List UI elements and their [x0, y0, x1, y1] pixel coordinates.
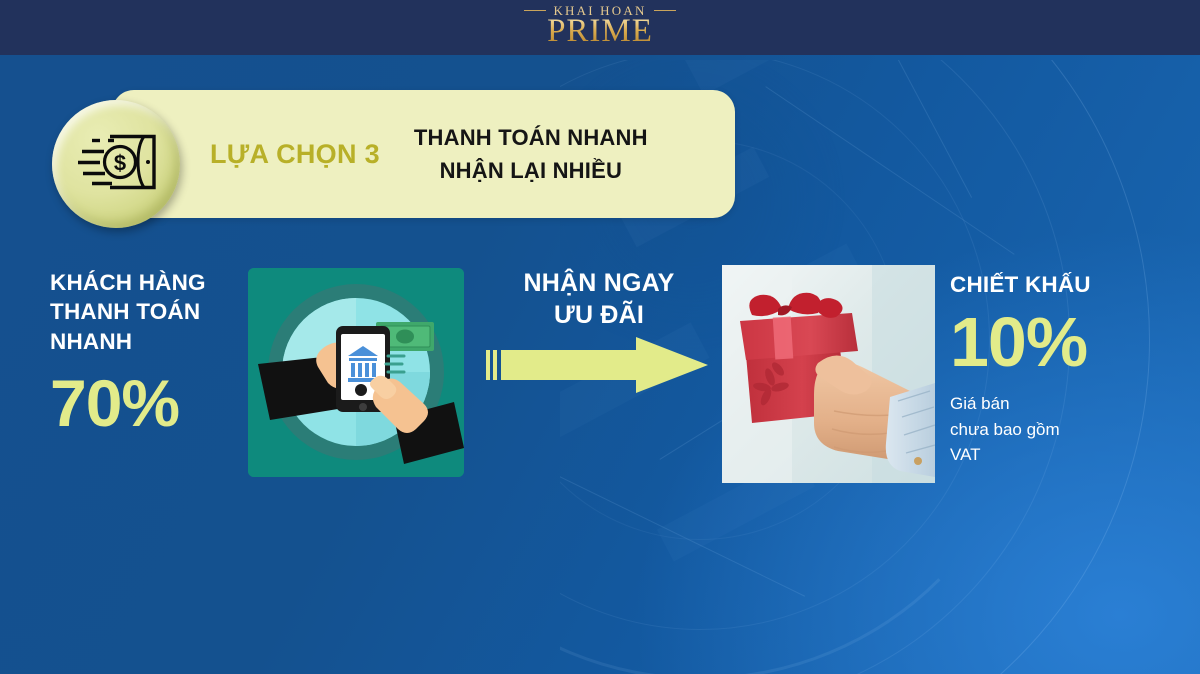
right-arrow-icon: [486, 335, 712, 395]
option-banner: LỰA CHỌN 3 THANH TOÁN NHANH NHẬN LẠI NHI…: [112, 90, 735, 218]
center-title-line2: ƯU ĐÃI: [484, 300, 714, 332]
right-note-line1: Giá bán: [950, 391, 1165, 416]
option-headline: THANH TOÁN NHANH NHẬN LẠI NHIỀU: [414, 121, 648, 188]
gift-box-photo: [722, 265, 935, 483]
left-stat-block: KHÁCH HÀNG THANH TOÁN NHANH 70%: [50, 268, 245, 436]
left-title-line3: NHANH: [50, 327, 245, 356]
right-title: CHIẾT KHẤU: [950, 270, 1165, 299]
center-title-line1: NHẬN NGAY: [484, 268, 714, 300]
mobile-banking-payment-illustration: [248, 268, 464, 477]
center-callout: NHẬN NGAY ƯU ĐÃI: [484, 268, 714, 331]
left-percent-value: 70%: [50, 370, 245, 436]
option-headline-line1: THANH TOÁN NHANH: [414, 121, 648, 154]
logo-dash-right: [654, 10, 676, 11]
left-title-line1: KHÁCH HÀNG: [50, 268, 245, 297]
right-percent-value: 10%: [950, 307, 1165, 377]
option-coin-badge: $: [52, 100, 180, 228]
right-note-line2: chưa bao gồm: [950, 417, 1165, 442]
right-note: Giá bán chưa bao gồm VAT: [950, 391, 1165, 466]
fast-money-icon: $: [74, 133, 158, 196]
option-headline-line2: NHẬN LẠI NHIỀU: [414, 154, 648, 187]
center-title: NHẬN NGAY ƯU ĐÃI: [484, 268, 714, 331]
brand-logo: KHAI HOAN PRIME: [0, 4, 1200, 48]
left-title-line2: THANH TOÁN: [50, 297, 245, 326]
brand-logo-main: PRIME: [0, 15, 1200, 48]
right-note-line3: VAT: [950, 442, 1165, 467]
slide-canvas: KHAI HOAN PRIME LỰA CHỌN 3 THANH TOÁN NH…: [0, 0, 1200, 674]
logo-dash-left: [524, 10, 546, 11]
option-banner-content: LỰA CHỌN 3 THANH TOÁN NHANH NHẬN LẠI NHI…: [210, 90, 717, 218]
option-label: LỰA CHỌN 3: [210, 139, 380, 170]
svg-text:$: $: [114, 151, 126, 176]
right-stat-block: CHIẾT KHẤU 10% Giá bán chưa bao gồm VAT: [950, 270, 1165, 467]
header-bar: KHAI HOAN PRIME: [0, 0, 1200, 55]
left-title: KHÁCH HÀNG THANH TOÁN NHANH: [50, 268, 245, 356]
